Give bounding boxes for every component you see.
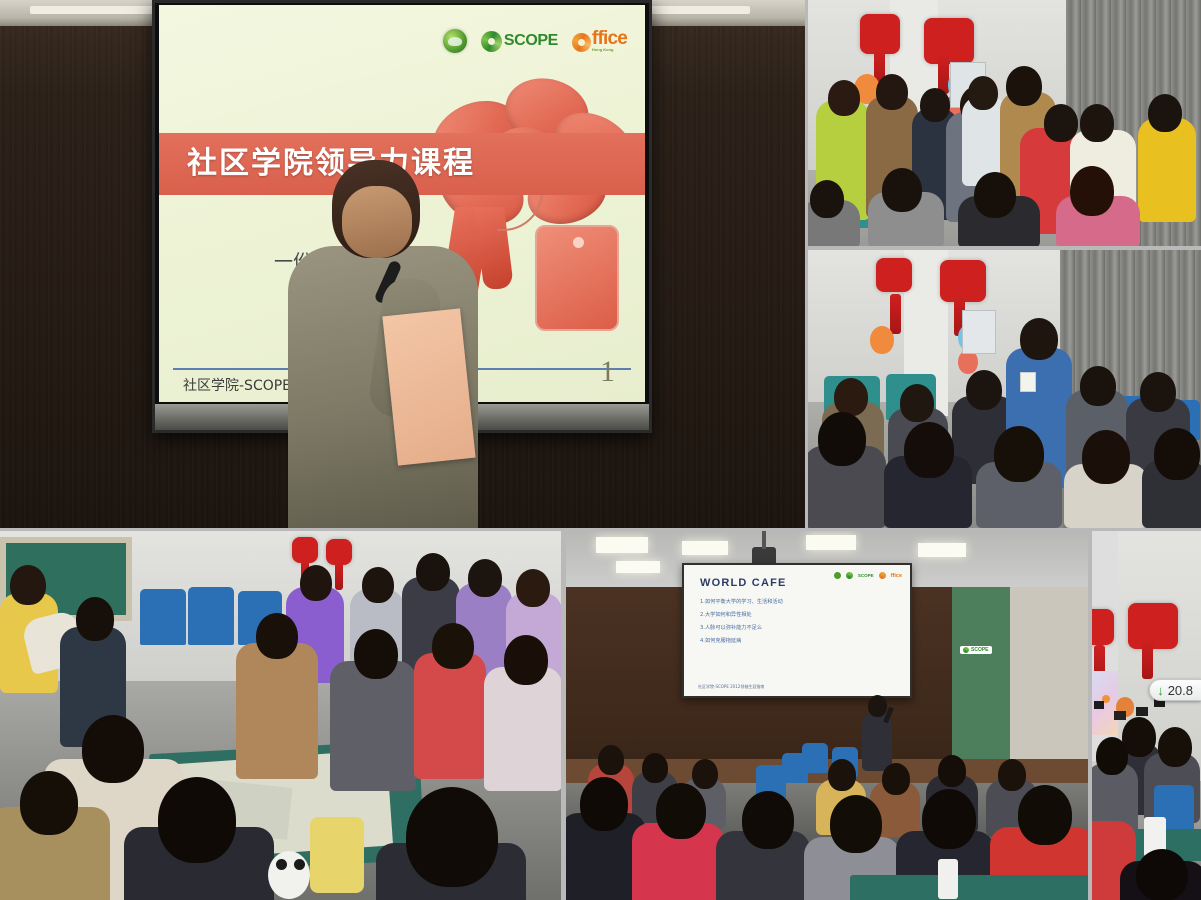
person-head	[10, 565, 46, 605]
chinese-knot-decoration	[940, 260, 986, 302]
person-head	[656, 783, 706, 839]
person-head	[1158, 727, 1192, 767]
chinese-knot-decoration	[1092, 609, 1114, 645]
photo-lecture-hall: SCOPE ffice WORLD CAFE 1.如何平衡大学的学习、生活和活动…	[566, 531, 1088, 900]
person-head	[1020, 318, 1058, 360]
person-torso	[330, 661, 416, 791]
hall-slide-bullet: 3.人脉可以弥补能力不足么	[700, 624, 910, 631]
hall-slide-footer: 社区学院-SCOPE 2012领袖生涯指南	[698, 684, 764, 690]
person-head	[1082, 430, 1130, 484]
office-logo: ffice Hong Kong	[572, 30, 627, 52]
person-head	[994, 426, 1044, 482]
person-head	[1080, 104, 1114, 142]
person-head	[868, 695, 887, 717]
person-torso	[236, 643, 318, 779]
green-circle-logo-icon	[834, 572, 841, 579]
person-head	[416, 553, 450, 591]
ceiling-light	[596, 537, 648, 553]
hall-slide-bullets: 1.如何平衡大学的学习、生活和活动 2.大学如何和异性相处 3.人脉可以弥补能力…	[700, 598, 910, 644]
slide-logo-row: SCOPE ffice Hong Kong	[443, 29, 627, 53]
office-logo-label: ffice	[592, 30, 627, 47]
wall-photo	[1094, 701, 1104, 709]
person-torso	[484, 667, 561, 791]
person-head	[1140, 372, 1176, 412]
person-head	[1070, 166, 1114, 216]
person-head	[692, 759, 718, 789]
scope-wall-banner: SCOPE	[960, 646, 992, 654]
person-head	[1136, 849, 1188, 900]
person-torso	[1138, 118, 1196, 222]
wall-photo	[1136, 707, 1148, 716]
person-head	[810, 180, 844, 218]
office-swirl-icon	[879, 572, 886, 579]
person-head	[920, 88, 950, 122]
scope-swirl-icon	[963, 647, 969, 653]
person-head	[504, 635, 548, 685]
download-arrow-icon: ↓	[1157, 684, 1164, 697]
table	[850, 875, 1088, 900]
person-head	[882, 168, 922, 212]
person-head	[432, 623, 474, 669]
person-head	[828, 759, 856, 791]
person-head	[1148, 94, 1182, 132]
person-head	[1096, 737, 1128, 775]
ceiling-light	[682, 541, 728, 555]
chinese-knot-decoration	[876, 258, 912, 292]
photo-collage: SCOPE ffice Hong Kong	[0, 0, 1201, 900]
person-head	[598, 745, 624, 775]
wall-photo	[1114, 711, 1126, 720]
scope-swirl-icon	[846, 572, 853, 579]
panda-eye	[294, 859, 305, 870]
person-head	[354, 629, 398, 679]
person-head	[828, 80, 860, 116]
person-head	[1080, 366, 1116, 406]
person-head	[966, 370, 1002, 410]
backpack	[310, 817, 364, 893]
hall-slide-bullet: 4.如何克服拖延病	[700, 637, 910, 644]
presenter-face	[342, 186, 412, 258]
person-head	[300, 565, 332, 601]
wall-board	[962, 310, 996, 354]
office-logo-label: ffice	[891, 573, 902, 579]
slide-footer: 社区学院-SCOPE	[183, 375, 291, 395]
person-head	[922, 789, 976, 849]
person-head	[834, 378, 868, 416]
person-head	[904, 422, 954, 478]
chinese-knot-decoration	[292, 537, 318, 563]
person-head	[76, 597, 114, 641]
person-head	[20, 771, 78, 835]
photo-crowd-standing	[808, 0, 1201, 246]
chinese-knot-decoration	[860, 14, 900, 54]
person-head	[1006, 66, 1042, 106]
person-head	[1018, 785, 1072, 845]
person-head	[256, 613, 298, 659]
hall-slide-bullet: 1.如何平衡大学的学习、生活和活动	[700, 598, 910, 605]
green-circle-logo-icon	[443, 29, 467, 53]
person-head	[938, 755, 966, 787]
name-badge	[1020, 372, 1036, 392]
chair	[188, 587, 234, 645]
person-head	[406, 787, 498, 887]
wall-panel	[1010, 587, 1088, 765]
projector-mount	[762, 531, 766, 549]
person-head	[818, 412, 866, 466]
ceiling-light	[918, 543, 966, 557]
slide-page-number: 1	[600, 355, 615, 389]
person-head	[82, 715, 144, 783]
presenter-paper	[382, 308, 475, 465]
chinese-knot-decoration	[326, 539, 352, 565]
download-speed-value: 20.8	[1168, 683, 1193, 698]
person-head	[830, 795, 882, 853]
person-head	[882, 763, 910, 795]
photo-crowd-seated	[808, 250, 1201, 528]
photo-group-work	[0, 531, 561, 900]
wall-panel	[952, 587, 1010, 765]
person-head	[974, 172, 1016, 218]
person-torso	[414, 653, 486, 779]
chair	[140, 589, 186, 645]
scope-swirl-icon	[481, 31, 502, 52]
person-head	[900, 384, 934, 422]
office-swirl-icon	[572, 33, 591, 52]
hall-slide-logo-row: SCOPE ffice	[834, 572, 902, 579]
person-head	[580, 777, 628, 831]
person-head	[158, 777, 236, 863]
chinese-knot-decoration	[924, 18, 974, 64]
photo-audience	[1092, 531, 1201, 900]
person-head	[468, 559, 502, 597]
hall-slide-bullet: 2.大学如何和异性相处	[700, 611, 910, 618]
ceiling-light	[616, 561, 660, 573]
scope-logo: SCOPE	[481, 31, 558, 52]
scope-logo-label: SCOPE	[504, 32, 558, 50]
ceiling-light	[806, 535, 856, 550]
panda-plush	[268, 851, 310, 899]
chinese-knot-decoration	[1128, 603, 1178, 649]
lecture-projection-screen: SCOPE ffice WORLD CAFE 1.如何平衡大学的学习、生活和活动…	[682, 563, 912, 698]
person-head	[516, 569, 550, 607]
photo-presenter-with-slide: SCOPE ffice Hong Kong	[0, 0, 805, 528]
thermos-bottle	[938, 859, 958, 899]
person-head	[968, 76, 998, 110]
person-head	[1154, 428, 1200, 480]
gift-tag	[535, 225, 619, 331]
person-head	[642, 753, 668, 783]
presenter-figure	[280, 160, 490, 528]
person-head	[876, 74, 908, 110]
person-head	[362, 567, 394, 603]
scope-logo-label: SCOPE	[858, 573, 874, 578]
balloon	[870, 326, 894, 354]
download-speed-indicator[interactable]: ↓ 20.8	[1149, 679, 1201, 701]
person-head	[742, 791, 794, 849]
panda-eye	[276, 859, 287, 870]
person-head	[998, 759, 1026, 791]
scope-banner-label: SCOPE	[971, 647, 989, 653]
